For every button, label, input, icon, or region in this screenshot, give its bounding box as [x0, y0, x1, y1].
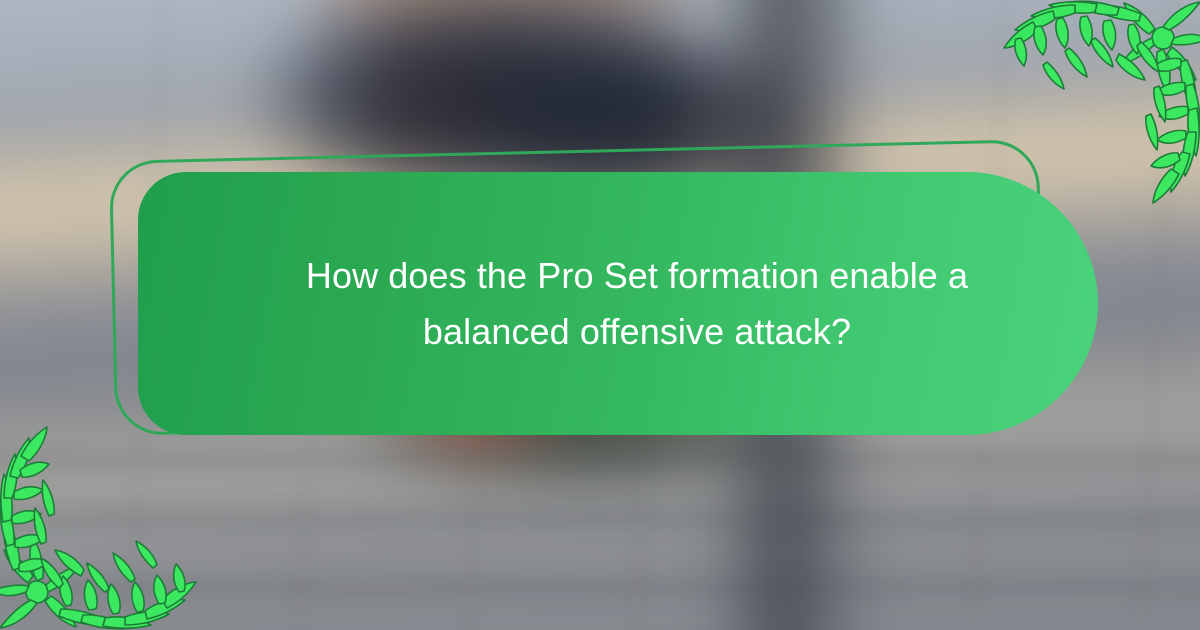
- background-seam-line: [0, 512, 1200, 526]
- social-card-canvas: How does the Pro Set formation enable a …: [0, 0, 1200, 630]
- background-seam-line: [0, 580, 1200, 594]
- background-seam-line: [0, 452, 1200, 466]
- question-headline: How does the Pro Set formation enable a …: [277, 248, 997, 360]
- question-card: How does the Pro Set formation enable a …: [138, 172, 1098, 435]
